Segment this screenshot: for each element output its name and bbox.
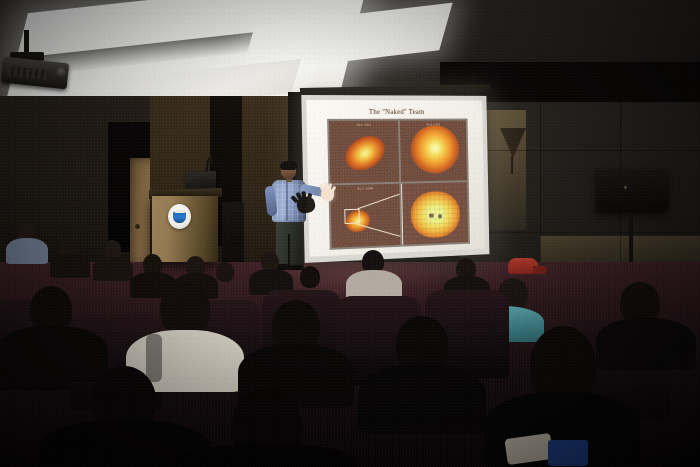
audience-shoulders [50, 254, 90, 278]
astro-panel-label: NGC 14886 [357, 186, 373, 190]
red-cap-brim [533, 266, 547, 274]
zoom-inset-panel [401, 182, 468, 245]
pa-speaker [596, 170, 668, 212]
cone-wall-fixture-tip [511, 156, 513, 174]
astro-panel-bottom-left: NGC 14886 [330, 184, 400, 248]
audience-shoulders [176, 444, 356, 467]
audience-shoulders [93, 257, 133, 281]
wall-seam [460, 232, 700, 233]
lecture-hall-photo: The "Naked" Team NGC 4261 NGC 3379 [0, 0, 700, 467]
audience-head [216, 262, 234, 282]
presenter-shoe [289, 265, 303, 270]
wall-seam [460, 150, 700, 151]
astro-panel-bottom-right [401, 182, 468, 245]
pa-speaker-led [624, 186, 627, 189]
blue-item [548, 440, 588, 466]
audience-shoulders [0, 326, 108, 382]
inset-pixel-grid [402, 182, 468, 245]
audience-shoulders [358, 364, 486, 434]
microphone-head [208, 156, 213, 162]
astro-panel-label: NGC 4261 [357, 123, 371, 127]
zoom-selection-box [344, 208, 360, 223]
audience-head [160, 282, 210, 336]
audience-shoulders [6, 238, 48, 264]
finger [302, 191, 307, 199]
audience-shoulders [596, 318, 696, 370]
astro-panel-top-right: NGC 3379 [400, 120, 467, 181]
slide-title: The "Naked" Team [314, 108, 475, 116]
finger [307, 193, 313, 202]
presenter-glasses-icon [282, 169, 295, 173]
bag-strap [146, 334, 162, 382]
astro-panel-label: NGC 3379 [426, 122, 440, 126]
emblem-cap [174, 210, 185, 213]
presentation-slide: The "Naked" Team NGC 4261 NGC 3379 [306, 100, 485, 257]
podium-emblem-icon [168, 204, 191, 229]
presenter-gesturing-hand [320, 187, 335, 202]
audience-head [300, 266, 320, 288]
astro-panel-top-left: NGC 4261 [329, 121, 399, 184]
presenter-leg-gap [288, 234, 290, 268]
door-handle [135, 224, 140, 229]
screen-surface: The "Naked" Team NGC 4261 NGC 3379 [306, 100, 485, 257]
presenter-shirt-placket [286, 181, 288, 221]
equipment-rack [222, 202, 244, 262]
astro-panel-grid: NGC 4261 NGC 3379 NGC 14886 [327, 119, 470, 250]
cone-wall-fixture-icon [500, 128, 526, 158]
